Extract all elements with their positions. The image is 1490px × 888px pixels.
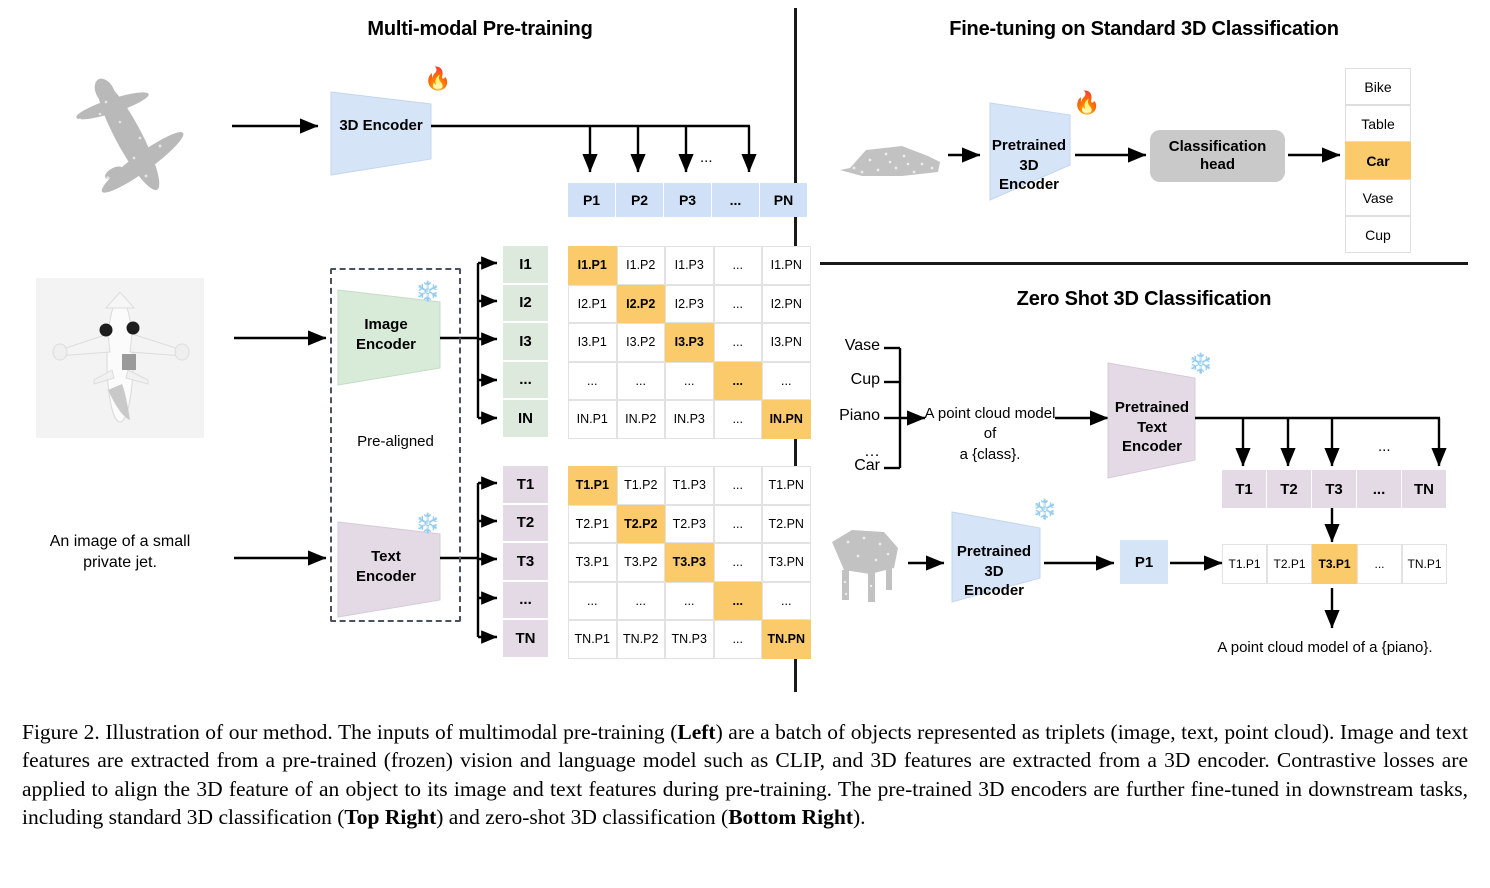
- text-similarity-cell: ...: [714, 582, 763, 621]
- zeroshot-class-label: Piano: [820, 406, 880, 427]
- zeroshot-text-feature-cell: T3: [1312, 470, 1356, 508]
- image-similarity-cell: I2.PN: [762, 285, 811, 324]
- image-similarity-cell: IN.P2: [617, 400, 666, 439]
- text-similarity-cell: T3.P2: [617, 543, 666, 582]
- image-feature-tag: I2: [503, 285, 548, 322]
- text-similarity-cell: T2.P2: [617, 505, 666, 544]
- page-title-finetuning: Fine-tuning on Standard 3D Classificatio…: [820, 18, 1468, 41]
- text-similarity-cell: T2.PN: [762, 505, 811, 544]
- image-similarity-cell: I2.P1: [568, 285, 617, 324]
- image-similarity-cell: ...: [714, 246, 763, 285]
- image-similarity-cell: ...: [714, 285, 763, 324]
- text-input-caption: An image of a small private jet.: [24, 532, 216, 574]
- zeroshot-similarity-cell: T1.P1: [1222, 544, 1267, 584]
- text-similarity-cell: TN.PN: [762, 620, 811, 659]
- text-similarity-cell: ...: [762, 582, 811, 621]
- p-feature-cell: P1: [568, 183, 615, 217]
- zeroshot-similarity-cell: T2.P1: [1267, 544, 1312, 584]
- snowflake-icon-zs-text-encoder: ❄️: [1188, 354, 1213, 374]
- image-similarity-cell: I3.PN: [762, 323, 811, 362]
- p-feature-cell: P2: [616, 183, 663, 217]
- image-similarity-cell: I1.P2: [617, 246, 666, 285]
- image-similarity-cell: ...: [617, 362, 666, 401]
- horizontal-divider: [820, 262, 1468, 265]
- zeroshot-text-feature-cell: T1: [1222, 470, 1266, 508]
- image-similarity-cell: I2.P3: [665, 285, 714, 324]
- image-similarity-cell: I3.P3: [665, 323, 714, 362]
- image-similarity-cell: ...: [714, 323, 763, 362]
- image-similarity-cell: ...: [714, 400, 763, 439]
- prealigned-label: Pre-aligned: [330, 432, 461, 452]
- fire-icon-pretrain: 🔥: [424, 68, 451, 90]
- zeroshot-class-label: Cup: [820, 370, 880, 391]
- caption-emphasis: Top Right: [344, 805, 436, 829]
- image-similarity-cell: I1.P1: [568, 246, 617, 285]
- text-similarity-cell: ...: [714, 466, 763, 505]
- zeroshot-similarity-cell: ...: [1357, 544, 1402, 584]
- caption-emphasis: Bottom Right: [728, 805, 853, 829]
- text-feature-tag: T1: [503, 466, 548, 503]
- fire-icon-finetune: 🔥: [1073, 92, 1100, 114]
- image-similarity-cell: IN.P3: [665, 400, 714, 439]
- airplane-point-cloud: [28, 50, 228, 220]
- text-similarity-cell: T1.P1: [568, 466, 617, 505]
- caption-emphasis: Left: [677, 720, 715, 744]
- image-similarity-cell: IN.PN: [762, 400, 811, 439]
- finetune-class-item[interactable]: Bike: [1345, 68, 1411, 105]
- image-feature-tag: I1: [503, 246, 548, 283]
- text-feature-tag: T2: [503, 505, 548, 542]
- image-similarity-cell: IN.P1: [568, 400, 617, 439]
- finetune-class-item[interactable]: Cup: [1345, 216, 1411, 253]
- image-similarity-cell: I3.P1: [568, 323, 617, 362]
- classification-head-box: Classification head: [1150, 130, 1285, 182]
- snowflake-icon-zs-3d-encoder: ❄️: [1032, 500, 1057, 520]
- text-similarity-cell: T3.PN: [762, 543, 811, 582]
- image-similarity-cell: I3.P2: [617, 323, 666, 362]
- pretrained-text-encoder-label: Pretrained Text Encoder: [1106, 398, 1198, 457]
- zeroshot-text-feature-cell: T2: [1267, 470, 1311, 508]
- p-feature-cell: PN: [760, 183, 807, 217]
- zeroshot-text-feature-cell: ...: [1357, 470, 1401, 508]
- image-feature-tag: ...: [503, 362, 548, 399]
- finetune-class-item[interactable]: Car: [1345, 142, 1411, 179]
- zeroshot-similarity-cell: TN.P1: [1402, 544, 1447, 584]
- image-similarity-cell: ...: [762, 362, 811, 401]
- zeroshot-text-feature-cell: TN: [1402, 470, 1446, 508]
- page-title-multimodal-pretraining: Multi-modal Pre-training: [180, 18, 780, 41]
- image-similarity-cell: I1.PN: [762, 246, 811, 285]
- finetune-class-item[interactable]: Table: [1345, 105, 1411, 142]
- piano-point-cloud: [822, 520, 908, 612]
- finetune-encoder-label: Pretrained 3D Encoder: [985, 136, 1073, 195]
- text-similarity-cell: T1.PN: [762, 466, 811, 505]
- p-feature-cell: P3: [664, 183, 711, 217]
- caption-text: ) and zero-shot 3D classification (: [436, 805, 728, 829]
- figure-caption: Figure 2. Illustration of our method. Th…: [22, 718, 1468, 832]
- text-similarity-cell: T3.P1: [568, 543, 617, 582]
- text-similarity-cell: T3.P3: [665, 543, 714, 582]
- prompt-template-label: A point cloud model of a {class}.: [920, 404, 1060, 465]
- zeroshot-result-label: A point cloud model of a {piano}.: [1160, 638, 1490, 658]
- jet-rendered-image: [36, 278, 204, 438]
- text-similarity-cell: ...: [617, 582, 666, 621]
- text-similarity-cell: TN.P2: [617, 620, 666, 659]
- text-similarity-cell: ...: [568, 582, 617, 621]
- text-similarity-cell: T1.P3: [665, 466, 714, 505]
- text-similarity-cell: ...: [665, 582, 714, 621]
- text-similarity-cell: T2.P1: [568, 505, 617, 544]
- text-feature-tag: ...: [503, 582, 548, 619]
- text-feature-tag: T3: [503, 543, 548, 580]
- image-similarity-cell: I1.P3: [665, 246, 714, 285]
- zeroshot-similarity-cell: T3.P1: [1312, 544, 1357, 584]
- figure-canvas: Multi-modal Pre-training Fine-tuning on …: [0, 0, 1490, 700]
- t-row-ellipsis-top: ...: [1378, 437, 1391, 457]
- image-similarity-cell: ...: [568, 362, 617, 401]
- text-feature-tag: TN: [503, 620, 548, 657]
- p-feature-cell: ...: [712, 183, 759, 217]
- p1-feature-box: P1: [1120, 540, 1168, 584]
- text-similarity-cell: ...: [714, 620, 763, 659]
- image-feature-tag: I3: [503, 323, 548, 360]
- image-similarity-cell: I2.P2: [617, 285, 666, 324]
- text-similarity-cell: T1.P2: [617, 466, 666, 505]
- image-feature-tag: IN: [503, 400, 548, 437]
- finetune-class-item[interactable]: Vase: [1345, 179, 1411, 216]
- zeroshot-class-label: Car: [820, 456, 880, 477]
- text-similarity-cell: TN.P1: [568, 620, 617, 659]
- text-similarity-cell: ...: [714, 505, 763, 544]
- zeroshot-class-label: Vase: [820, 336, 880, 357]
- image-similarity-cell: ...: [665, 362, 714, 401]
- p-row-ellipsis-top: ...: [700, 148, 713, 168]
- caption-text: Figure 2. Illustration of our method. Th…: [22, 720, 677, 744]
- page-title-zeroshot: Zero Shot 3D Classification: [820, 288, 1468, 311]
- text-similarity-cell: T2.P3: [665, 505, 714, 544]
- pretrained-3d-encoder-label: Pretrained 3D Encoder: [948, 542, 1040, 601]
- image-similarity-cell: ...: [714, 362, 763, 401]
- text-similarity-cell: ...: [714, 543, 763, 582]
- encoder-3d-label: 3D Encoder: [331, 116, 431, 136]
- car-point-cloud: [832, 128, 948, 186]
- text-similarity-cell: TN.P3: [665, 620, 714, 659]
- caption-text: ).: [853, 805, 866, 829]
